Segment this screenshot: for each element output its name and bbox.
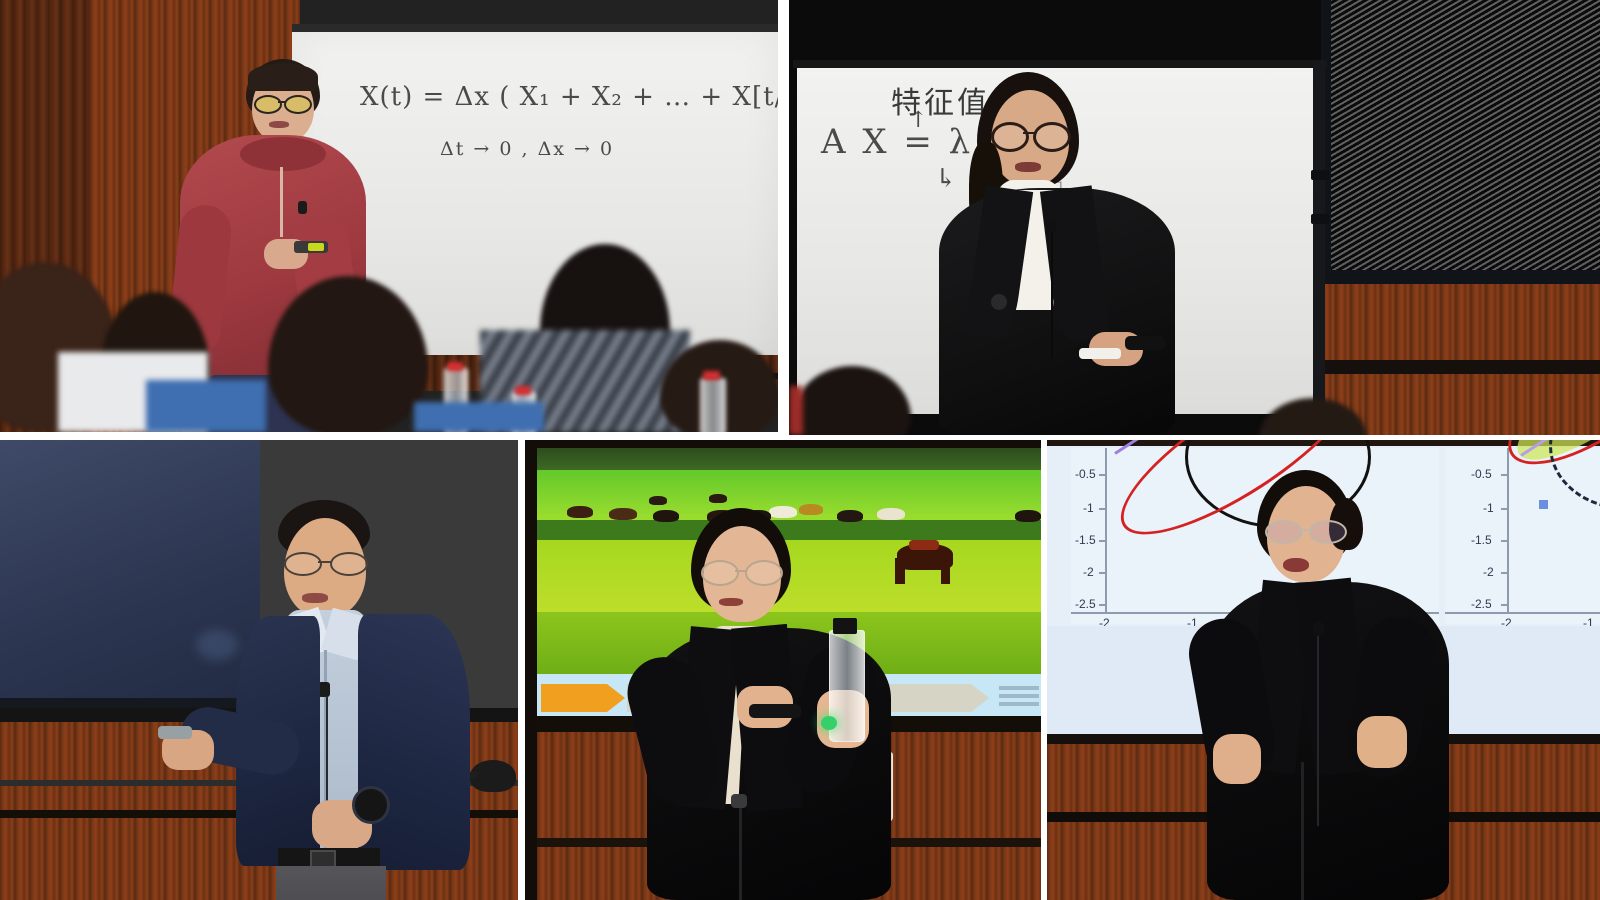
slide-text-line-3 (999, 702, 1039, 706)
cow-1 (567, 506, 593, 518)
hoodie-drawstring (280, 167, 283, 237)
microphone-cable (326, 696, 328, 816)
whiteboard-frame-right (1313, 60, 1325, 416)
chevron-grey-2-tip (971, 684, 989, 712)
chart-right-ytick-4: -2 (1483, 565, 1494, 579)
chevron-orange-tip (607, 684, 625, 712)
presentation-clicker (749, 704, 801, 718)
chart-right-yaxis (1507, 448, 1509, 614)
water-bottle-cap-2 (515, 386, 531, 395)
chart-right-xaxis (1445, 612, 1600, 614)
presenter-mouth (1015, 162, 1041, 172)
held-bottle-cap (833, 618, 857, 634)
lapel-microphone (1047, 220, 1056, 232)
chart-left-ytick-2: -1 (1083, 501, 1094, 515)
screen-frame-bottom (1321, 270, 1600, 284)
wall-rail (1321, 360, 1600, 374)
panel-bottom-middle (525, 440, 1041, 900)
presenter-glasses (1265, 520, 1349, 540)
chart-left-ytick-5: -2.5 (1075, 597, 1096, 611)
chart-right-ytickmark-2 (1501, 508, 1509, 510)
photo-collage: X(t) = Δx ( X₁ + X₂ + … + X[t/Δt] ). Δt … (0, 0, 1600, 900)
cardigan-right (358, 614, 470, 870)
trousers (276, 866, 386, 900)
presenter-left-hand (1213, 734, 1261, 784)
chart-left-ytick-4: -2 (1083, 565, 1094, 579)
blazer-seam (1301, 762, 1304, 900)
chart-left-yaxis (1105, 448, 1107, 614)
lapel-microphone (1313, 622, 1324, 636)
lapel-microphone (298, 201, 307, 214)
presentation-clicker (1125, 336, 1165, 350)
water-bottle-cap-1 (447, 362, 463, 371)
board-hinge-1 (1311, 170, 1329, 180)
suit-button (731, 794, 747, 808)
board-hinge-2 (1311, 214, 1329, 224)
presenter-glasses (254, 95, 312, 111)
chart-left-ytick-3: -1.5 (1075, 533, 1096, 547)
presenter-hair-front (248, 63, 318, 91)
chart-left-ytickmark-3 (1099, 540, 1107, 542)
horse-saddle (909, 540, 939, 550)
whiteboard-frame-top (292, 24, 778, 32)
chart-right-ytick-3: -1.5 (1471, 533, 1492, 547)
chart-right-dashed-circle (1549, 440, 1600, 510)
chart-right-ytick-2: -1 (1483, 501, 1494, 515)
chart-right-ytickmark-1 (1501, 474, 1509, 476)
whiteboard-marker (1079, 348, 1121, 359)
presentation-clicker (158, 726, 192, 739)
presenter-mouth (1283, 558, 1309, 572)
chart-right: -0.5 -1 -1.5 -2 -2.5 -2 -1 (1445, 448, 1600, 624)
presenter-navy-cardigan (240, 500, 490, 900)
whiteboard-equation-line1: X(t) = Δx ( X₁ + X₂ + … + X[t/Δt] ). (360, 82, 778, 112)
presenter-right-hand (1357, 716, 1407, 768)
presenter-mouth (719, 598, 743, 606)
chart-right-ytick-1: -0.5 (1471, 467, 1492, 481)
whiteboard-equation-line2: Δt → 0 , Δx → 0 (440, 138, 614, 160)
presenter-mouth (269, 121, 289, 128)
panel-bottom-right: -0.5 -1 -1.5 -2 -2.5 -2 -1 1 2 (1047, 440, 1600, 900)
panel-bottom-left (0, 440, 518, 900)
suit-zip (739, 804, 742, 900)
slide-text-line-1 (999, 686, 1039, 690)
screen-glare (196, 630, 238, 660)
panel-top-left: X(t) = Δx ( X₁ + X₂ + … + X[t/Δt] ). Δt … (0, 0, 778, 432)
chart-left-ytickmark-4 (1099, 572, 1107, 574)
laser-pointer-tip (308, 243, 324, 251)
water-bottle-cap-3 (703, 371, 720, 380)
chart-right-ytickmark-3 (1501, 540, 1509, 542)
chart-right-ytickmark-5 (1501, 604, 1509, 606)
cow-2 (609, 508, 637, 520)
whiteboard-frame-top (793, 60, 1327, 68)
horse-leg-2 (941, 558, 950, 584)
chart-left-ytickmark-5 (1099, 604, 1107, 606)
projection-screen (1329, 0, 1600, 272)
smartwatch (352, 786, 390, 824)
presenter-glasses (991, 122, 1071, 146)
cow-6 (709, 494, 727, 503)
cow-5 (649, 496, 667, 505)
clicker-laser-dot (821, 716, 837, 730)
chart-right-ytickmark-4 (1501, 572, 1509, 574)
presenter-plot-speaker (1205, 470, 1455, 900)
presenter-glasses (284, 552, 370, 572)
hoodie-hood (240, 137, 326, 171)
presenter-black-blazer (929, 70, 1189, 435)
presenter-grassland-speaker (643, 508, 903, 900)
water-bottle-3 (700, 378, 726, 432)
audience-chair-2 (414, 402, 544, 432)
presenter-glasses (701, 560, 785, 582)
audience-clothing-red (789, 386, 803, 435)
slide-text-line-2 (999, 694, 1039, 698)
chart-left-ytickmark-2 (1099, 508, 1107, 510)
audience-chair-1 (146, 380, 266, 432)
cow-12 (1015, 510, 1041, 522)
chart-right-ytick-5: -2.5 (1471, 597, 1492, 611)
chart-left-ytickmark-1 (1099, 474, 1107, 476)
chevron-orange (541, 684, 607, 712)
chart-right-marker-point (1539, 500, 1548, 509)
microphone-cable (1317, 636, 1319, 826)
presenter-mouth (302, 593, 328, 603)
microphone-cable (1051, 232, 1053, 358)
chart-left-ytick-1: -0.5 (1075, 467, 1096, 481)
panel-top-right: 特征值 ↑ A X = λ X ↳ ▭ (789, 0, 1600, 435)
blazer-button (991, 294, 1007, 310)
projection-screen-dark (0, 440, 260, 708)
